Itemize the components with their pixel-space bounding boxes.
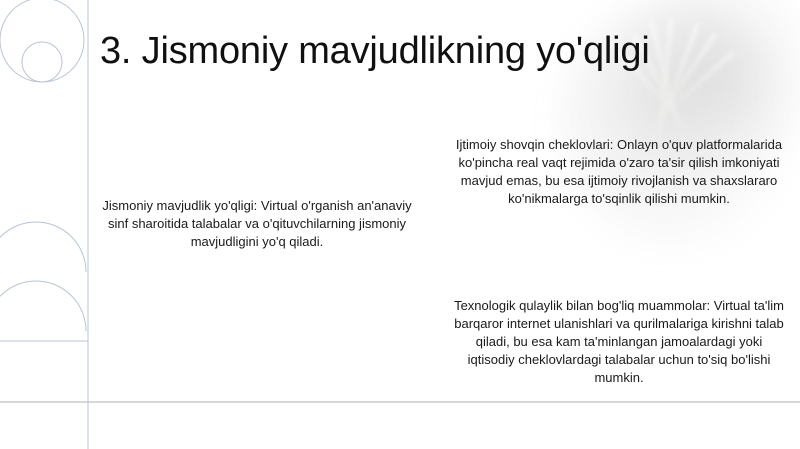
content-block-left: Jismoniy mavjudlik yo'qligi: Virtual o'r… [92, 197, 422, 251]
content-block-bottom-right: Texnologik qulaylik bilan bog'liq muammo… [452, 297, 786, 387]
page-title: 3. Jismoniy mavjudlikning yo'qligi [100, 29, 790, 73]
outer-circle-decoration [0, 0, 84, 82]
upper-arch-decoration [0, 222, 86, 272]
slide-canvas: 3. Jismoniy mavjudlikning yo'qligi Jismo… [0, 0, 800, 449]
lower-arch-decoration [0, 281, 86, 331]
content-block-top-right: Ijtimoiy shovqin cheklovlari: Onlayn o'q… [452, 136, 786, 208]
inner-circle-decoration [22, 42, 62, 82]
